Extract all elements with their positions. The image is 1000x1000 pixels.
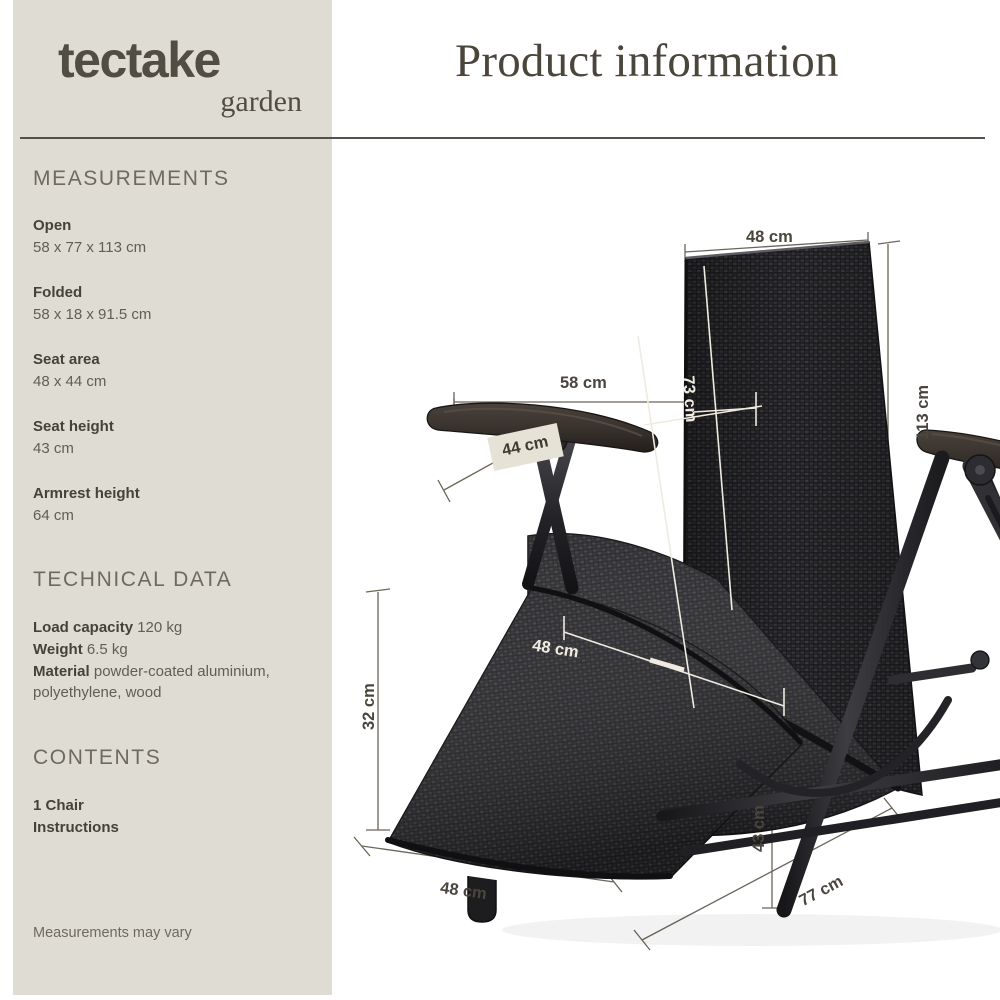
measurement-seat-height-value: 43 cm [33,438,114,460]
brand-logo: tectake garden [58,35,308,117]
chair-drawing [332,140,1000,995]
measurement-seat-height-label: Seat height [33,416,114,438]
section-heading-measurements: MEASUREMENTS [33,167,230,191]
measurement-seat-height: Seat height 43 cm [33,416,114,460]
contents-item: Instructions [33,817,119,839]
sidebar: tectake garden MEASUREMENTS Open 58 x 77… [13,0,332,995]
measurement-armrest-height-value: 64 cm [33,505,140,527]
measurement-armrest-height-label: Armrest height [33,483,140,505]
measurement-seat-area-label: Seat area [33,349,106,371]
spec-load-capacity: Load capacity 120 kg [33,617,311,639]
measurement-seat-area: Seat area 48 x 44 cm [33,349,106,393]
dimension-label-seat-height: 43 cm [750,805,769,852]
technical-specs: Load capacity 120 kg Weight 6.5 kg Mater… [33,617,311,704]
measurement-folded: Folded 58 x 18 x 91.5 cm [33,282,151,326]
dimension-label-seat-to-back: 58 cm [560,374,607,393]
section-heading-technical-data: TECHNICAL DATA [33,568,232,592]
header-divider [20,137,985,139]
spec-load-capacity-label: Load capacity [33,619,133,636]
section-heading-contents: CONTENTS [33,746,161,770]
dimension-label-total-height: 113 cm [914,385,933,440]
page-title: Product information [455,34,839,88]
spec-weight: Weight 6.5 kg [33,639,311,661]
brand-name: tectake [58,35,308,85]
dimension-label-backrest-width: 48 cm [746,228,793,247]
footnote: Measurements may vary [33,925,192,941]
contents-item: 1 Chair [33,795,119,817]
brand-sub: garden [58,87,308,117]
spec-material-label: Material [33,663,90,680]
measurement-folded-label: Folded [33,282,151,304]
measurement-open: Open 58 x 77 x 113 cm [33,215,146,259]
measurement-armrest-height: Armrest height 64 cm [33,483,140,527]
product-illustration: 48 cm 73 cm 113 cm 58 cm 44 cm 48 cm 32 … [332,140,1000,995]
product-information-sheet: tectake garden MEASUREMENTS Open 58 x 77… [0,0,1000,1000]
spec-load-capacity-value: 120 kg [137,619,182,636]
measurement-seat-area-value: 48 x 44 cm [33,371,106,393]
spec-material: Material powder-coated aluminium, polyet… [33,661,311,705]
dimension-label-backrest-length: 73 cm [678,375,700,423]
contents-list: 1 Chair Instructions [33,795,119,839]
spec-weight-label: Weight [33,641,83,658]
dimension-label-footrest-height: 32 cm [360,683,379,730]
measurement-open-value: 58 x 77 x 113 cm [33,237,146,259]
measurement-open-label: Open [33,215,146,237]
measurement-folded-value: 58 x 18 x 91.5 cm [33,304,151,326]
spec-weight-value: 6.5 kg [87,641,128,658]
